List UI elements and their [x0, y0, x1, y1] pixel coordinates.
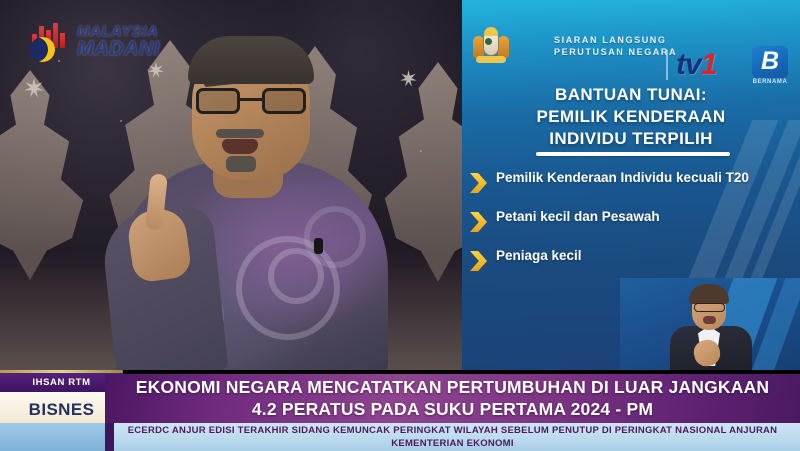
title-underline [536, 152, 730, 156]
list-item-label: Peniaga kecil [496, 248, 582, 265]
chevron-right-icon [470, 251, 487, 271]
sign-language-interpreter-inset [620, 278, 800, 370]
list-item-label: Petani kecil dan Pesawah [496, 209, 660, 226]
list-item: Peniaga kecil [462, 248, 800, 271]
panel-title-line1: BANTUAN TUNAI: [462, 84, 800, 106]
segment-label: BISNES [29, 400, 95, 420]
madani-logo-line2: MADANI [77, 40, 160, 59]
headline-line1: EKONOMI NEGARA MENCATATKAN PERTUMBUHAN D… [136, 377, 770, 398]
panel-title: BANTUAN TUNAI: PEMILIK KENDERAAN INDIVID… [462, 84, 800, 149]
list-item-label: Pemilik Kenderaan Individu kecuali T20 [496, 170, 749, 187]
lower-third: IHSAN RTM BISNES 21 : 35 : 33 EKONOMI NE… [0, 370, 800, 451]
crawl-line2: KEMENTERIAN EKONOMI [391, 438, 513, 451]
broadcast-label: SIARAN LANGSUNG PERUTUSAN NEGARA [554, 34, 677, 58]
crawl-line1: ECERDC ANJUR EDISI TERAKHIR SIDANG KEMUN… [128, 425, 778, 438]
crawl-left-fill [0, 423, 105, 451]
news-crawl: ECERDC ANJUR EDISI TERAKHIR SIDANG KEMUN… [105, 423, 800, 451]
headline-line2: 4.2 PERATUS PADA SUKU PERTAMA 2024 - PM [252, 399, 653, 420]
broadcast-header: SIARAN LANGSUNG PERUTUSAN NEGARA tv1 B B… [462, 24, 800, 68]
jata-negara-emblem-icon [472, 26, 510, 66]
crawl-edge-accent [105, 423, 114, 451]
tv1-channel-logo: tv1 [676, 48, 716, 82]
list-item: Petani kecil dan Pesawah [462, 209, 800, 232]
chevron-right-icon [470, 212, 487, 232]
header-divider [666, 50, 668, 80]
broadcast-label-line2: PERUTUSAN NEGARA [554, 46, 677, 58]
source-credit-label: IHSAN RTM [32, 377, 90, 388]
malaysia-madani-logo: MALAYSIA MADANI [28, 22, 160, 62]
broadcast-label-line1: SIARAN LANGSUNG [554, 34, 677, 46]
eyeglasses-icon [694, 303, 725, 312]
eyeglasses-icon [196, 88, 306, 114]
bernama-logo: B BERNAMA [752, 46, 788, 85]
star-motif-icon [400, 70, 417, 87]
headline-banner: EKONOMI NEGARA MENCATATKAN PERTUMBUHAN D… [105, 374, 800, 423]
live-video-feed: MALAYSIA MADANI [0, 0, 462, 370]
bullet-list: Pemilik Kenderaan Individu kecuali T20 P… [462, 170, 800, 287]
list-item: Pemilik Kenderaan Individu kecuali T20 [462, 170, 800, 193]
panel-title-line2: PEMILIK KENDERAAN [462, 106, 800, 128]
madani-mark-icon [28, 22, 70, 62]
panel-title-line3: INDIVIDU TERPILIH [462, 128, 800, 150]
broadcast-screen: MALAYSIA MADANI SIARAN LANGSUNG PERUTUSA… [0, 0, 800, 451]
chevron-right-icon [470, 173, 487, 193]
speaker-figure [118, 46, 388, 370]
bernama-letter: B [761, 49, 779, 74]
lapel-microphone [314, 238, 323, 254]
